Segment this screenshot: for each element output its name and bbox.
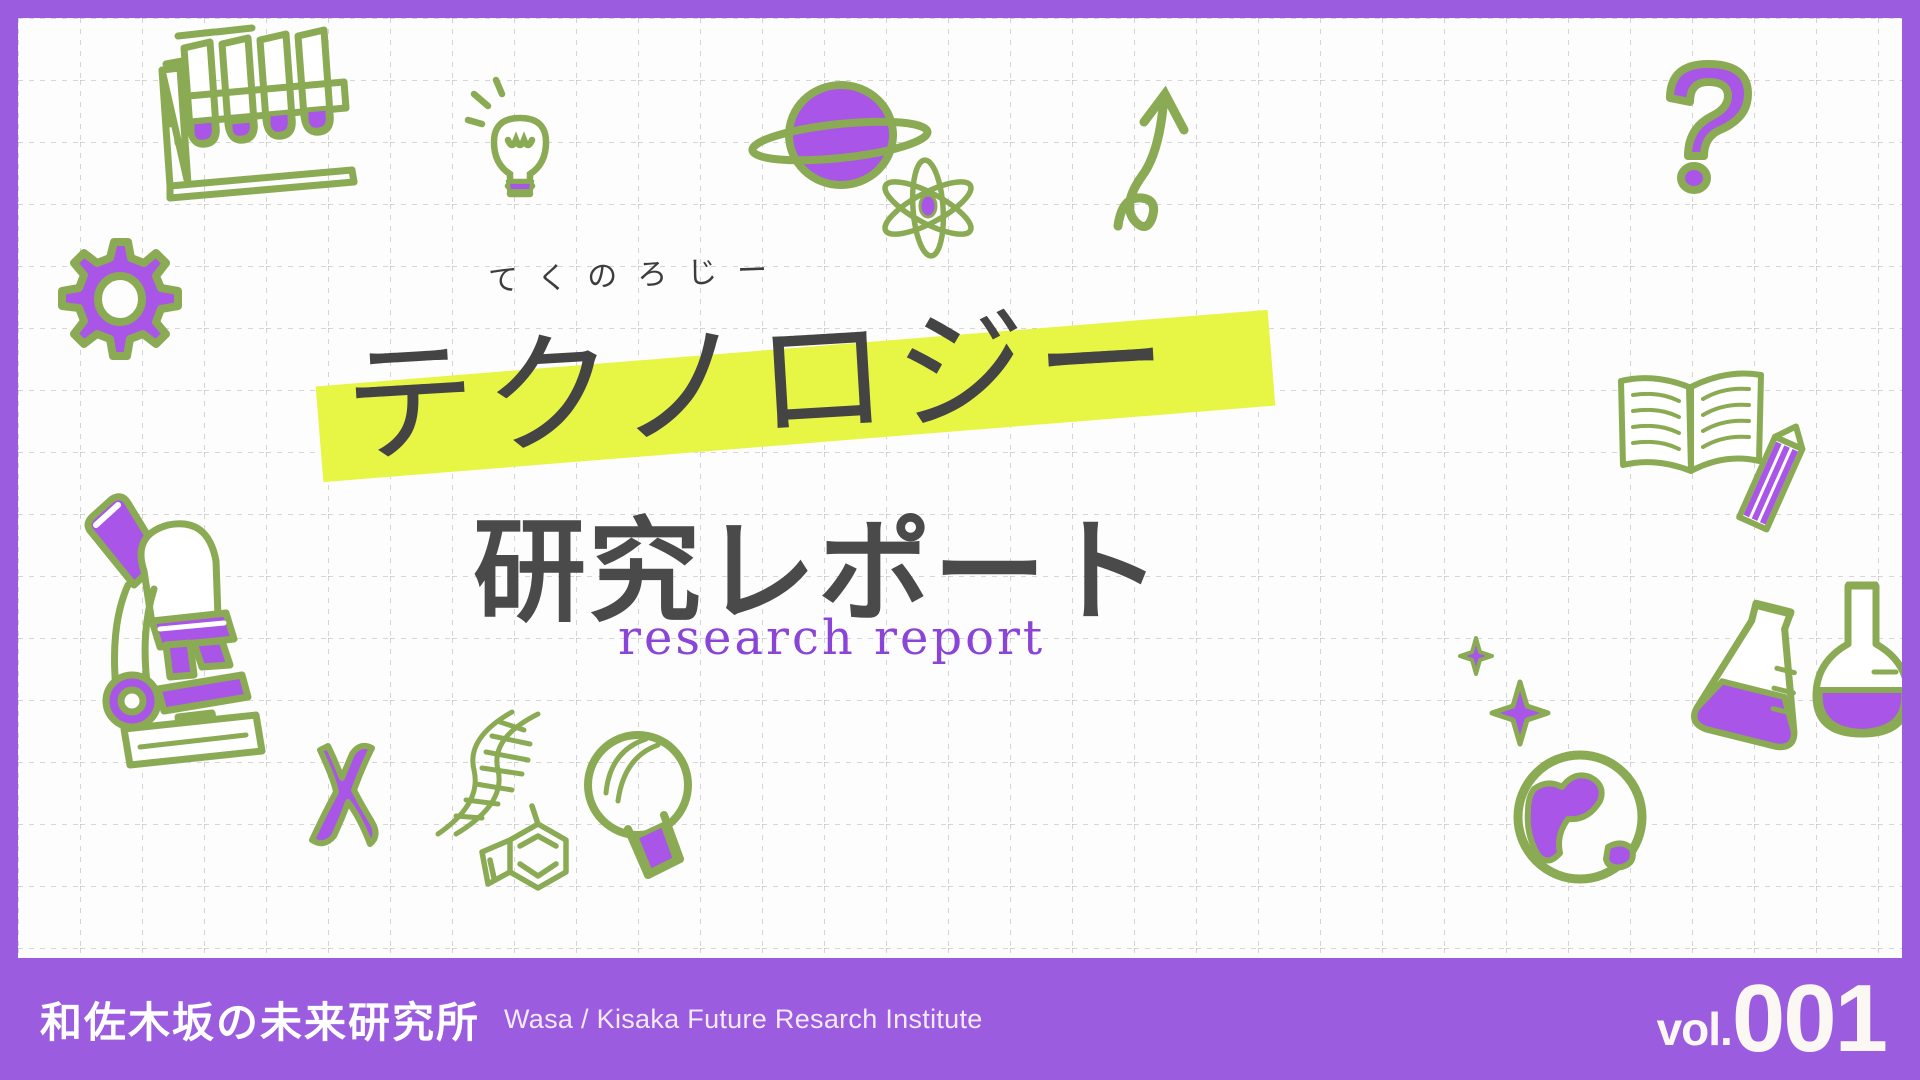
pencil-icon [1718,418,1828,548]
microscope-icon [66,493,296,773]
gear-icon [56,236,186,366]
round-flask-icon [1808,578,1902,748]
lightbulb-icon [468,78,588,208]
institute-name-jp: 和佐木坂の未来研究所 [40,989,480,1050]
curved-arrow-up-icon [1108,78,1238,228]
volume-number: 001 [1732,978,1886,1060]
chromosome-icon [300,740,390,860]
question-mark-icon [1648,46,1788,196]
volume-badge: vol. 001 [1657,978,1886,1060]
sparkle-icon [1490,678,1550,748]
atom-icon [873,158,983,258]
cover-page: てくのろじー テクノロジー 研究レポート research report 和佐木… [0,0,1920,1080]
footer-bar: 和佐木坂の未来研究所 Wasa / Kisaka Future Resarch … [0,958,1920,1080]
erlenmeyer-flask-icon [1688,598,1828,758]
grid-paper-card: てくのろじー テクノロジー 研究レポート research report [18,18,1902,958]
sparkle-small-icon [1458,636,1494,676]
volume-label: vol. [1657,1002,1732,1060]
test-tube-rack-icon [148,28,378,213]
magnifier-icon [576,723,716,903]
globe-icon [1508,743,1658,893]
institute-name-en: Wasa / Kisaka Future Resarch Institute [504,1004,983,1035]
decorative-icon-layer [18,18,1902,958]
